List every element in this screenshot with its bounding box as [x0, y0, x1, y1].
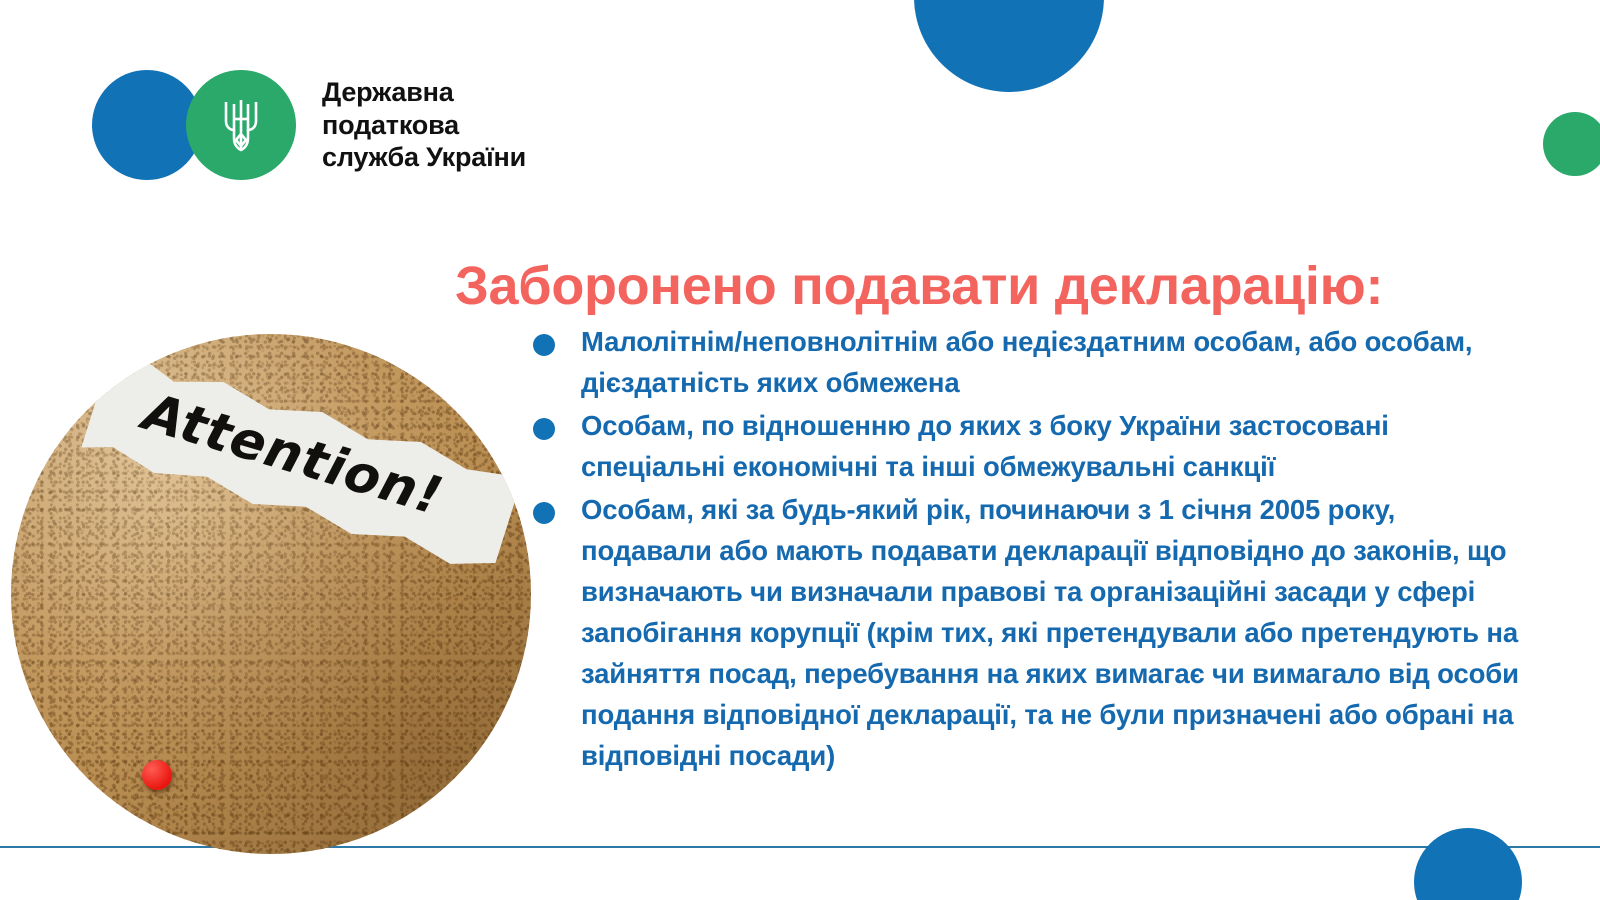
ukraine-trident-icon	[218, 94, 264, 156]
decoration-top-blue-halfcircle	[914, 0, 1104, 92]
list-item: Малолітнім/неповнолітнім або недієздатни…	[533, 322, 1528, 404]
attention-corkboard-photo: Attention!	[11, 334, 531, 854]
logo-green-circle-icon	[186, 70, 296, 180]
red-pushpin-icon	[142, 760, 172, 790]
list-item: Особам, по відношенню до яких з боку Укр…	[533, 406, 1528, 488]
organization-logo: Державна податкова служба України	[92, 70, 526, 180]
organization-name: Державна податкова служба України	[322, 76, 526, 175]
prohibition-list: Малолітнім/неповнолітнім або недієздатни…	[533, 322, 1528, 779]
list-item-text: Особам, по відношенню до яких з боку Укр…	[581, 410, 1389, 482]
list-item-text: Особам, які за будь-який рік, починаючи …	[581, 494, 1519, 771]
slide-canvas: Державна податкова служба України Заборо…	[0, 0, 1600, 900]
list-item-text: Малолітнім/неповнолітнім або недієздатни…	[581, 326, 1472, 398]
decoration-bottom-blue-circle	[1414, 828, 1522, 900]
decoration-right-green-circle	[1543, 112, 1600, 176]
bullet-dot-icon	[533, 418, 555, 440]
page-title: Заборонено подавати декларацію:	[455, 258, 1565, 315]
bullet-dot-icon	[533, 334, 555, 356]
bullet-dot-icon	[533, 502, 555, 524]
list-item: Особам, які за будь-який рік, починаючи …	[533, 490, 1528, 777]
